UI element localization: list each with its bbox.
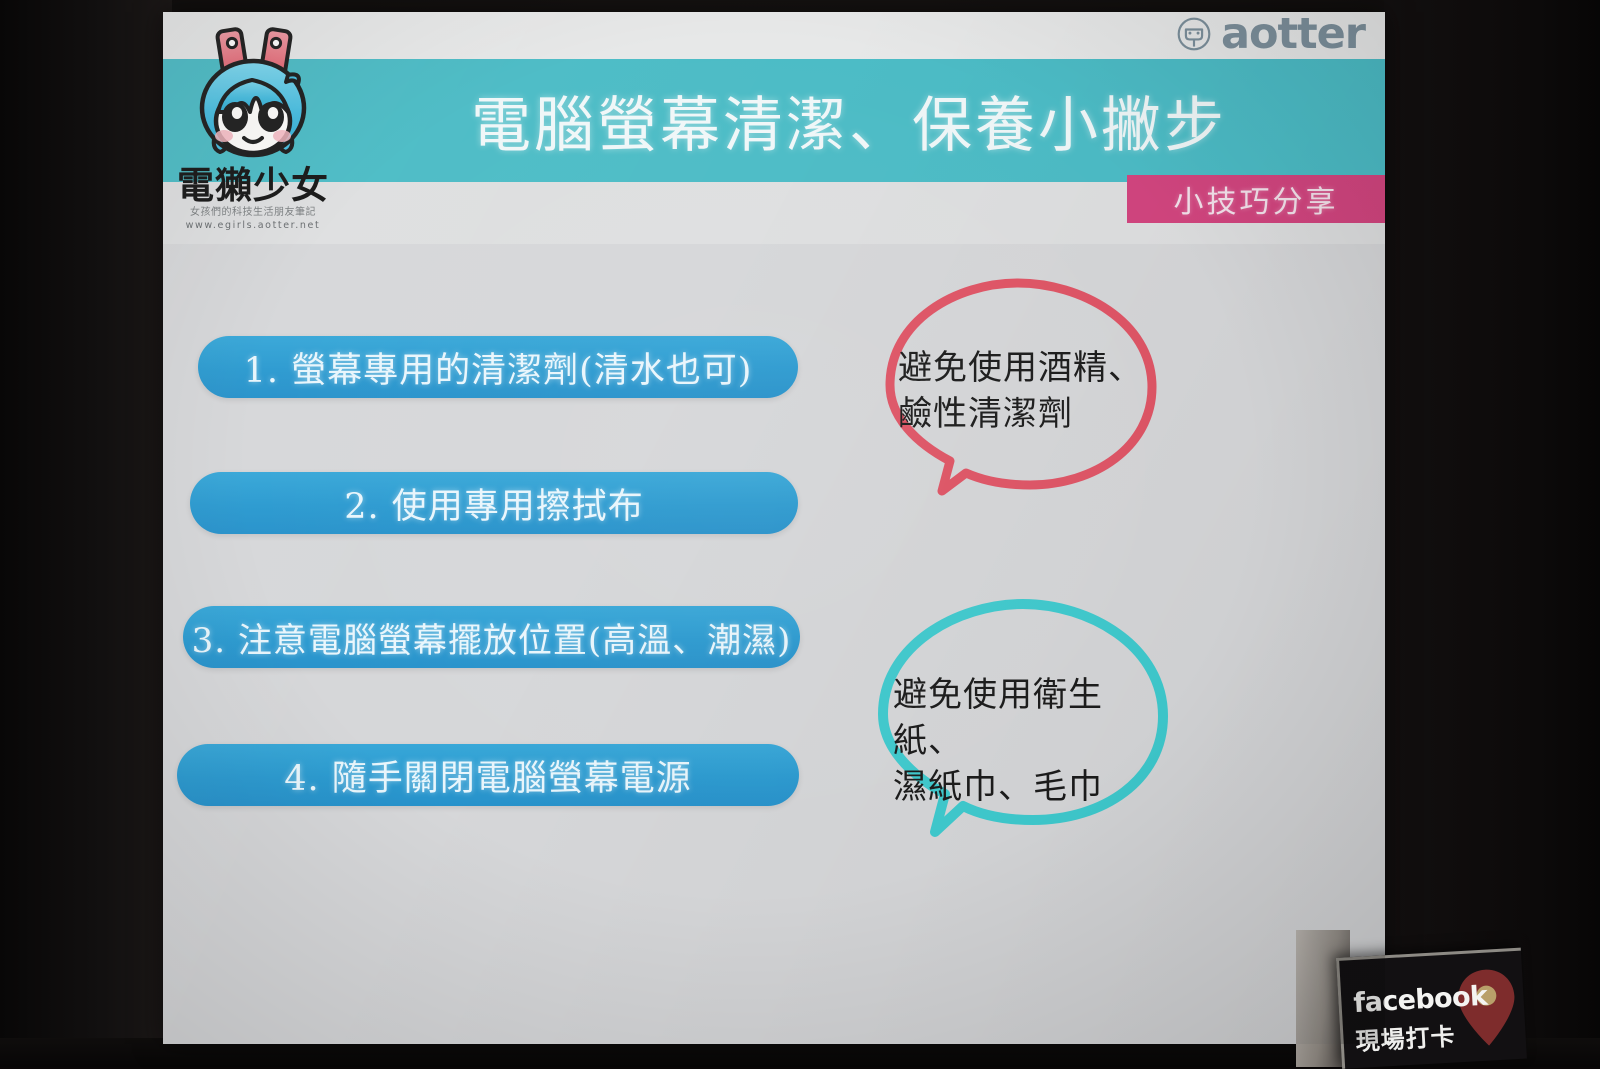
egirls-tagline: 女孩們的科技生活朋友筆記 <box>173 206 333 219</box>
aotter-wordmark: aotter <box>1221 16 1365 52</box>
step-bar-4: 4. 隨手關閉電腦螢幕電源 <box>177 744 799 806</box>
facebook-checkin-sign: facebook 現場打卡 <box>1336 948 1527 1069</box>
egirls-name: 電獺少女 <box>173 166 333 206</box>
aotter-otter-icon <box>1176 16 1212 52</box>
slide-title: 電腦螢幕清潔、保養小撇步 <box>163 59 1385 182</box>
bubble-pink-line-1: 避免使用酒精、 <box>898 345 1148 391</box>
egirls-url: www.egirls.aotter.net <box>173 219 333 232</box>
speech-bubble-pink-text: 避免使用酒精、 鹼性清潔劑 <box>898 345 1148 437</box>
step-bar-2: 2. 使用專用擦拭布 <box>190 472 798 534</box>
bubble-pink-line-2: 鹼性清潔劑 <box>898 391 1148 437</box>
tip-badge: 小技巧分享 <box>1127 175 1385 223</box>
facebook-checkin-caption: 現場打卡 <box>1355 1016 1457 1057</box>
dark-room-background: aotter 電腦螢幕清潔、保養小撇步 小技巧分享 <box>0 0 1600 1067</box>
projected-slide: aotter 電腦螢幕清潔、保養小撇步 小技巧分享 <box>163 12 1385 1044</box>
speech-bubble-teal-text: 避免使用衛生紙、 濕紙巾、毛巾 <box>893 672 1158 810</box>
egirls-logo: 電獺少女 女孩們的科技生活朋友筆記 www.egirls.aotter.net <box>173 20 333 242</box>
speech-bubble-pink: 避免使用酒精、 鹼性清潔劑 <box>868 269 1168 534</box>
wall-right-shadow <box>1384 0 1600 1067</box>
bubble-teal-line-2: 濕紙巾、毛巾 <box>893 764 1158 810</box>
wall-left-shadow <box>0 0 172 1067</box>
bubble-teal-line-1: 避免使用衛生紙、 <box>893 672 1158 764</box>
step-bar-1: 1. 螢幕專用的清潔劑(清水也可) <box>198 336 798 398</box>
aotter-logo: aotter <box>1176 16 1365 52</box>
otter-mascot-icon <box>188 20 318 170</box>
slide-body: 1. 螢幕專用的清潔劑(清水也可) 2. 使用專用擦拭布 3. 注意電腦螢幕擺放… <box>163 244 1385 1044</box>
slide-header-strip: aotter <box>163 12 1385 59</box>
step-bar-3: 3. 注意電腦螢幕擺放位置(高溫、潮濕) <box>183 606 800 668</box>
speech-bubble-teal: 避免使用衛生紙、 濕紙巾、毛巾 <box>863 592 1183 867</box>
